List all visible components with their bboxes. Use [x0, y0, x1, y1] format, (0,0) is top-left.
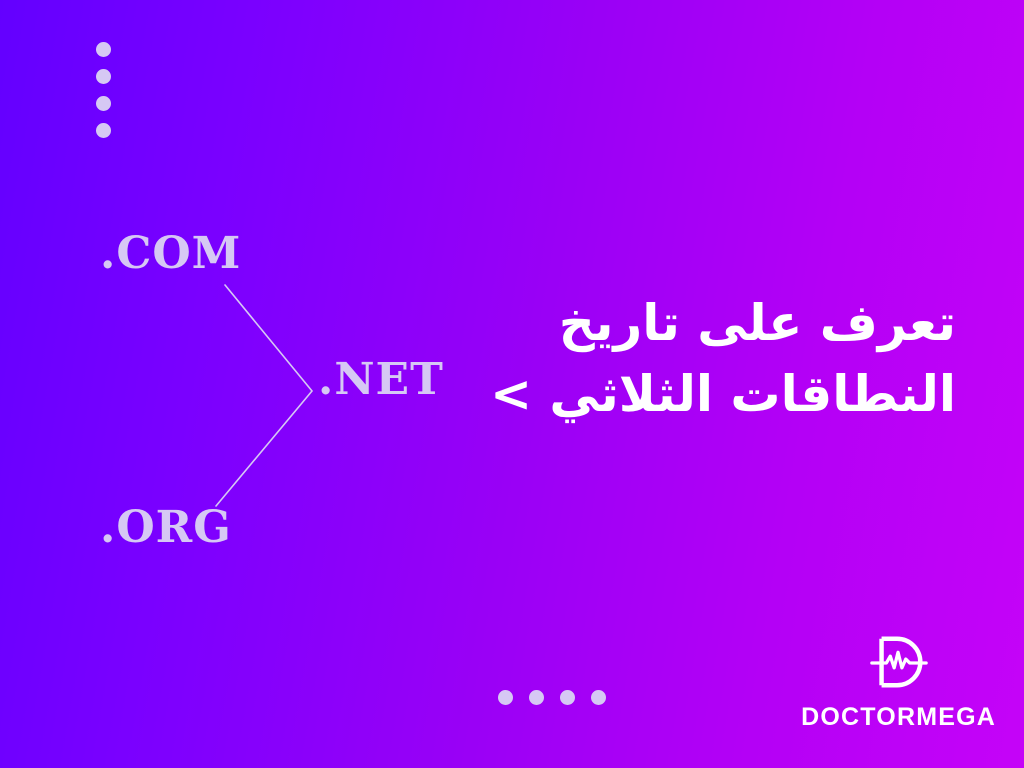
domain-label-net: .NET — [318, 358, 444, 402]
connector-line-svg — [0, 0, 520, 620]
headline-line-2: النطاقات الثلاثي > — [536, 359, 956, 430]
doctormega-logo-icon — [868, 631, 930, 693]
decor-dot — [560, 690, 575, 705]
decor-dot — [529, 690, 544, 705]
horizontal-dot-row — [498, 690, 622, 705]
decor-dot — [591, 690, 606, 705]
domain-label-com: .COM — [100, 232, 241, 276]
domain-label-org: .ORG — [100, 506, 232, 550]
doctormega-wordmark: DOCTORMEGA — [801, 705, 996, 730]
headline-line-1: تعرف على تاريخ — [536, 288, 956, 359]
poster-canvas: .COM .NET .ORG تعرف على تاريخ النطاقات ا… — [0, 0, 1024, 768]
domain-extension-diagram: .COM .NET .ORG — [0, 0, 520, 620]
chevron-connector-path — [216, 285, 312, 506]
decor-dot — [498, 690, 513, 705]
doctormega-brand: DOCTORMEGA — [801, 631, 996, 730]
arabic-headline: تعرف على تاريخ النطاقات الثلاثي > — [536, 288, 956, 430]
